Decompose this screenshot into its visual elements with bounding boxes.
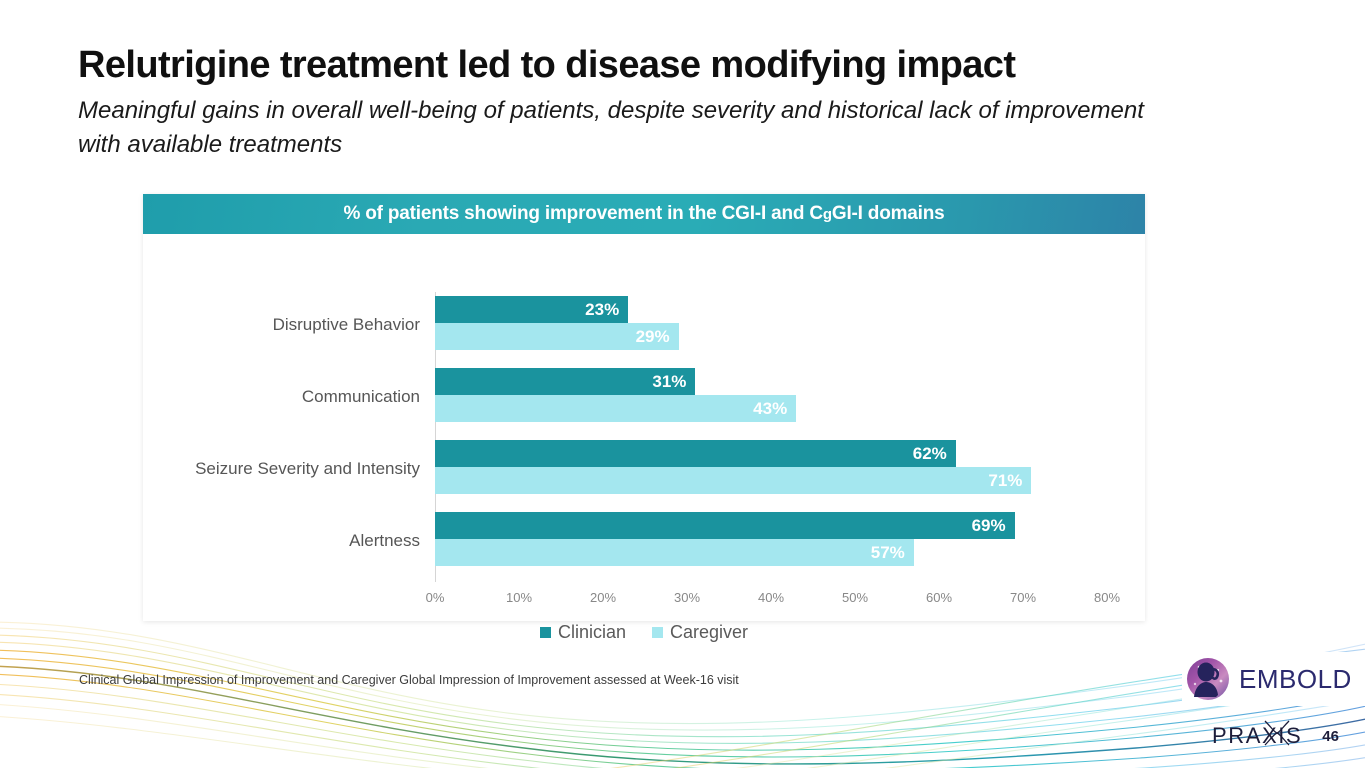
bar-caregiver: 71% bbox=[435, 467, 1031, 494]
category-label: Seizure Severity and Intensity bbox=[195, 459, 420, 479]
decorative-wave-graphic bbox=[0, 608, 1365, 768]
bar-value-label: 69% bbox=[972, 516, 1015, 536]
category-label: Communication bbox=[302, 387, 420, 407]
x-axis-tick-label: 60% bbox=[926, 590, 952, 605]
x-axis-tick-label: 10% bbox=[506, 590, 532, 605]
praxis-wordmark: PRAXIS bbox=[1212, 723, 1302, 749]
embold-logo: EMBOLD bbox=[1182, 652, 1365, 706]
bar-value-label: 29% bbox=[636, 327, 679, 347]
category-axis-labels: Disruptive BehaviorCommunicationSeizure … bbox=[143, 292, 428, 582]
bar-caregiver: 29% bbox=[435, 323, 679, 350]
x-axis-tick-label: 0% bbox=[426, 590, 445, 605]
bar-clinician: 69% bbox=[435, 512, 1015, 539]
category-label: Disruptive Behavior bbox=[273, 315, 420, 335]
chart-title-suffix: GI-I domains bbox=[832, 203, 945, 225]
footnote: Clinical Global Impression of Improvemen… bbox=[79, 673, 739, 687]
x-axis-tick-label: 70% bbox=[1010, 590, 1036, 605]
bar-caregiver: 43% bbox=[435, 395, 796, 422]
praxis-brand-block: PRAXIS 46 bbox=[1212, 723, 1339, 749]
bar-clinician: 62% bbox=[435, 440, 956, 467]
chart-title-prefix: % of patients showing improvement in the… bbox=[343, 203, 822, 225]
bar-caregiver: 57% bbox=[435, 539, 914, 566]
x-axis-tick-label: 30% bbox=[674, 590, 700, 605]
category-label: Alertness bbox=[349, 531, 420, 551]
bar-clinician: 31% bbox=[435, 368, 695, 395]
chart-title-banner: % of patients showing improvement in the… bbox=[143, 194, 1145, 234]
x-axis-tick-label: 20% bbox=[590, 590, 616, 605]
embold-circle-figure-icon bbox=[1186, 657, 1230, 701]
chart-card: % of patients showing improvement in the… bbox=[143, 194, 1145, 621]
embold-wordmark: EMBOLD bbox=[1239, 664, 1352, 695]
page-number: 46 bbox=[1322, 728, 1339, 745]
bars-layer: 23%29%31%43%62%71%69%57% bbox=[435, 292, 1145, 582]
praxis-x-cross-icon bbox=[1262, 718, 1292, 748]
chart-plot-area: Disruptive BehaviorCommunicationSeizure … bbox=[143, 234, 1145, 621]
chart-title-subscript: g bbox=[823, 206, 832, 223]
page-subtitle: Meaningful gains in overall well-being o… bbox=[78, 94, 1168, 162]
x-axis-tick-label: 40% bbox=[758, 590, 784, 605]
bar-clinician: 23% bbox=[435, 296, 628, 323]
bar-value-label: 43% bbox=[753, 399, 796, 419]
bar-value-label: 31% bbox=[652, 372, 695, 392]
page-title: Relutrigine treatment led to disease mod… bbox=[78, 42, 1258, 88]
x-axis-tick-label: 50% bbox=[842, 590, 868, 605]
x-axis-tick-label: 80% bbox=[1094, 590, 1120, 605]
bar-value-label: 23% bbox=[585, 300, 628, 320]
bar-value-label: 62% bbox=[913, 444, 956, 464]
bar-value-label: 57% bbox=[871, 543, 914, 563]
bar-value-label: 71% bbox=[988, 471, 1031, 491]
